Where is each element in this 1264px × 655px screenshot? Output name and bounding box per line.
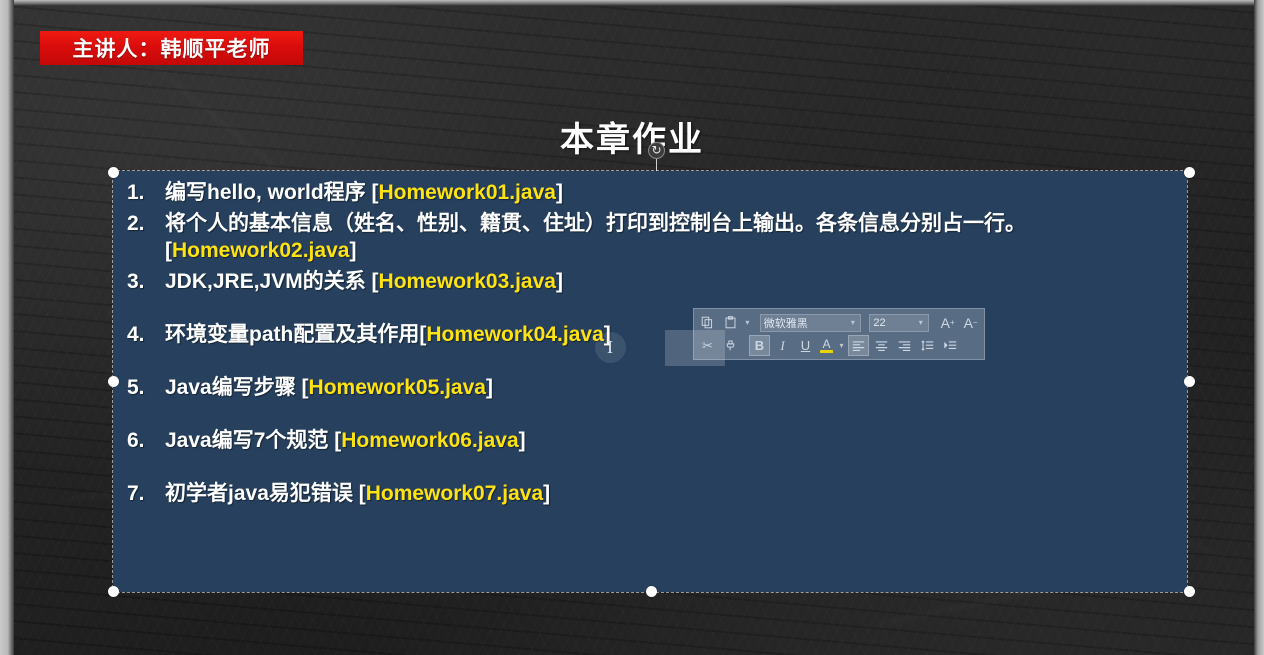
homework-file: Homework01.java (379, 181, 556, 204)
list-item[interactable]: 4. 环境变量path配置及其作用[Homework04.java] (127, 321, 1173, 348)
homework-file: Homework03.java (379, 270, 556, 293)
homework-file: Homework05.java (309, 376, 486, 399)
list-item-number: 4. (127, 321, 165, 348)
list-item-tail: ] (556, 270, 563, 293)
rotate-handle-stem (656, 159, 657, 171)
homework-file: Homework02.java (172, 239, 349, 262)
list-item-text: 环境变量path配置及其作用[ (165, 323, 426, 346)
grow-font-sup: + (950, 319, 955, 327)
mini-formatting-toolbar[interactable]: ▾ 微软雅黑 ▾ 22 ▾ A+ A− ✂ (693, 308, 985, 360)
font-color-swatch (820, 350, 833, 353)
align-right-icon[interactable] (894, 335, 915, 356)
font-color-dropdown-caret[interactable]: ▾ (837, 341, 846, 350)
list-item-text: Java编写7个规范 [ (165, 429, 341, 452)
format-painter-icon[interactable] (720, 335, 741, 356)
list-item-body: JDK,JRE,JVM的关系 [Homework03.java] (165, 268, 1173, 295)
list-item-text: 初学者java易犯错误 [ (165, 482, 366, 505)
list-item-body: 初学者java易犯错误 [Homework07.java] (165, 480, 1173, 507)
homework-textbox[interactable]: 1. 编写hello, world程序 [Homework01.java] 2.… (113, 171, 1187, 592)
list-item-tail: ] (556, 181, 563, 204)
bold-button[interactable]: B (749, 335, 770, 356)
list-item[interactable]: 2. 将个人的基本信息（姓名、性别、籍贯、住址）打印到控制台上输出。各条信息分别… (127, 210, 1173, 264)
italic-button[interactable]: I (772, 335, 793, 356)
shrink-font-sup: − (973, 319, 978, 327)
shrink-font-letter: A (964, 316, 973, 330)
resize-handle-bottom-right[interactable] (1184, 586, 1195, 597)
homework-file: Homework07.java (366, 482, 543, 505)
window-edge-right (1254, 0, 1264, 655)
font-color-button[interactable]: A (818, 335, 835, 356)
resize-handle-middle-right[interactable] (1184, 376, 1195, 387)
list-item-text: Java编写步骤 [ (165, 376, 309, 399)
cut-icon[interactable]: ✂ (697, 335, 718, 356)
resize-handle-top-right[interactable] (1184, 167, 1195, 178)
window-edge-left (0, 0, 14, 655)
line-spacing-icon[interactable] (917, 335, 938, 356)
copy-icon[interactable] (697, 312, 718, 333)
list-item-body: Java编写步骤 [Homework05.java] (165, 374, 1173, 401)
mini-toolbar-row-bottom: ✂ B I U A ▾ (697, 334, 981, 357)
list-item-text: JDK,JRE,JVM的关系 [ (165, 270, 379, 293)
list-item-tail: ] (486, 376, 493, 399)
paste-dropdown-caret[interactable]: ▾ (743, 318, 752, 327)
list-item-number: 1. (127, 179, 165, 206)
chevron-down-icon[interactable]: ▾ (916, 318, 925, 327)
resize-handle-bottom-center[interactable] (646, 586, 657, 597)
list-item-tail: ] (519, 429, 526, 452)
homework-list: 1. 编写hello, world程序 [Homework01.java] 2.… (127, 179, 1173, 507)
list-item-body: 将个人的基本信息（姓名、性别、籍贯、住址）打印到控制台上输出。各条信息分别占一行… (165, 210, 1173, 264)
grow-font-letter: A (941, 316, 950, 330)
list-item[interactable]: 3. JDK,JRE,JVM的关系 [Homework03.java] (127, 268, 1173, 295)
font-size-value: 22 (873, 317, 916, 329)
list-item-body: 编写hello, world程序 [Homework01.java] (165, 179, 1173, 206)
homework-file: Homework06.java (341, 429, 518, 452)
list-item-number: 2. (127, 210, 165, 237)
presenter-banner: 主讲人：韩顺平老师 (40, 31, 303, 65)
list-item-text: 编写hello, world程序 [ (165, 181, 379, 204)
window-edge-top (0, 0, 1264, 6)
resize-handle-top-left[interactable] (108, 167, 119, 178)
list-item[interactable]: 7. 初学者java易犯错误 [Homework07.java] (127, 480, 1173, 507)
font-size-select[interactable]: 22 ▾ (869, 314, 929, 332)
text-cursor-icon: I (607, 338, 613, 356)
underline-button[interactable]: U (795, 335, 816, 356)
list-item-tail: ] (349, 239, 356, 262)
list-item[interactable]: 6. Java编写7个规范 [Homework06.java] (127, 427, 1173, 454)
chevron-down-icon[interactable]: ▾ (848, 318, 857, 327)
homework-file: Homework04.java (426, 323, 603, 346)
list-item-number: 3. (127, 268, 165, 295)
list-item-number: 7. (127, 480, 165, 507)
font-color-letter: A (822, 339, 830, 350)
align-left-icon[interactable] (848, 335, 869, 356)
list-item[interactable]: 5. Java编写步骤 [Homework05.java] (127, 374, 1173, 401)
indent-icon[interactable] (940, 335, 961, 356)
page-title[interactable]: 本章作业 (0, 112, 1264, 161)
paste-icon[interactable] (720, 312, 741, 333)
resize-handle-bottom-left[interactable] (108, 586, 119, 597)
grow-font-icon[interactable]: A+ (937, 312, 958, 333)
shrink-font-icon[interactable]: A− (960, 312, 981, 333)
mini-toolbar-row-top: ▾ 微软雅黑 ▾ 22 ▾ A+ A− (697, 311, 981, 334)
font-name-select[interactable]: 微软雅黑 ▾ (760, 314, 862, 332)
list-item[interactable]: 1. 编写hello, world程序 [Homework01.java] (127, 179, 1173, 206)
align-center-icon[interactable] (871, 335, 892, 356)
list-item-tail: ] (543, 482, 550, 505)
rotate-handle-icon[interactable]: ↻ (648, 142, 665, 159)
list-item-number: 5. (127, 374, 165, 401)
slide-canvas[interactable]: 主讲人：韩顺平老师 本章作业 ↻ 1. 编写hello, world程序 [Ho… (0, 0, 1264, 655)
list-item-number: 6. (127, 427, 165, 454)
font-name-value: 微软雅黑 (764, 315, 849, 331)
list-item-body: Java编写7个规范 [Homework06.java] (165, 427, 1173, 454)
resize-handle-middle-left[interactable] (108, 376, 119, 387)
